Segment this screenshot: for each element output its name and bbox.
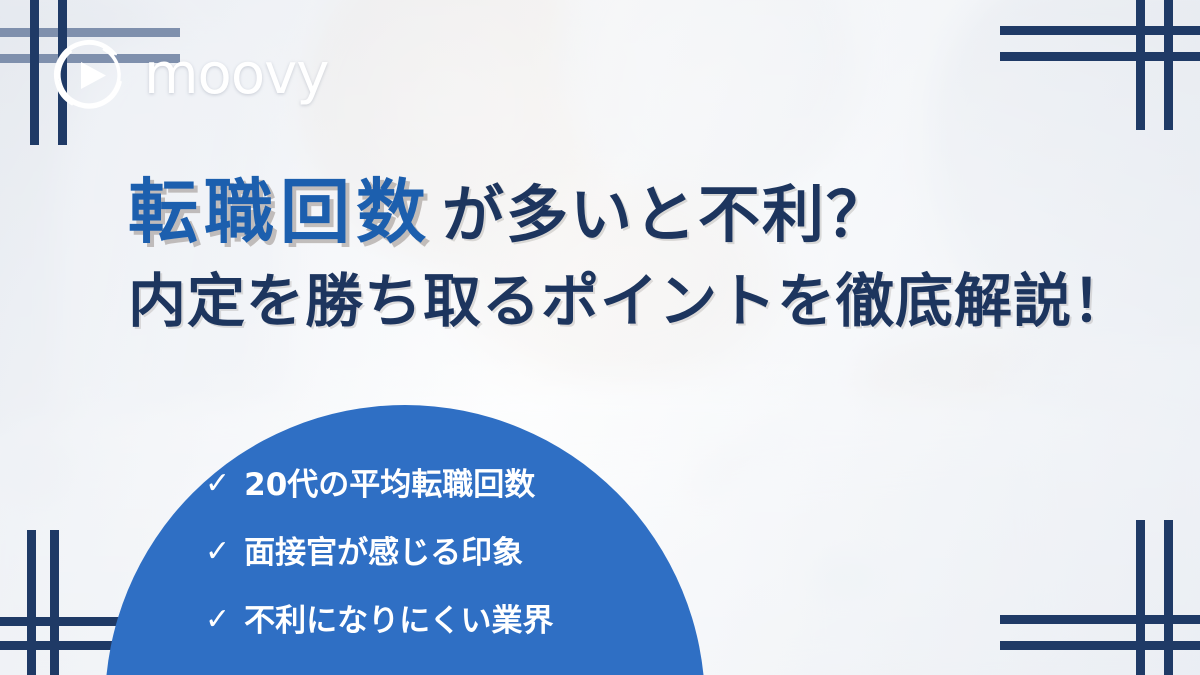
hash-mark-decoration-bottom-right	[1000, 520, 1200, 675]
hero-banner: moovy 転職回数が多いと不利？ 内定を勝ち取るポイントを徹底解説！ ✓ 20…	[0, 0, 1200, 675]
list-item: ✓ 面接官が感じる印象	[205, 538, 675, 569]
check-icon: ✓	[205, 605, 230, 635]
list-item-label: 不利になりにくい業界	[244, 606, 553, 637]
headline-line-1-rest: が多いと不利？	[442, 178, 890, 251]
list-item-label: 20代の平均転職回数	[244, 470, 535, 501]
list-item: ✓ 20代の平均転職回数	[205, 470, 675, 501]
play-circle-sketch-icon	[48, 34, 130, 116]
hash-mark-decoration-top-right	[1000, 0, 1200, 130]
headline: 転職回数が多いと不利？ 内定を勝ち取るポイントを徹底解説！	[128, 172, 1108, 339]
list-item: ✓ 不利になりにくい業界	[205, 606, 675, 637]
brand-logo[interactable]: moovy	[48, 34, 328, 116]
headline-line-2-text: 内定を勝ち取るポイントを徹底解説！	[128, 267, 1131, 335]
check-icon: ✓	[205, 469, 230, 499]
headline-keyword: 転職回数	[128, 171, 442, 253]
check-icon: ✓	[205, 537, 230, 567]
headline-line-1: 転職回数が多いと不利？	[128, 172, 1108, 255]
brand-logo-text: moovy	[144, 47, 328, 103]
headline-line-2: 内定を勝ち取るポイントを徹底解説！	[128, 263, 1108, 339]
list-item-label: 面接官が感じる印象	[244, 538, 523, 569]
highlight-list: ✓ 20代の平均転職回数 ✓ 面接官が感じる印象 ✓ 不利になりにくい業界	[205, 470, 675, 674]
